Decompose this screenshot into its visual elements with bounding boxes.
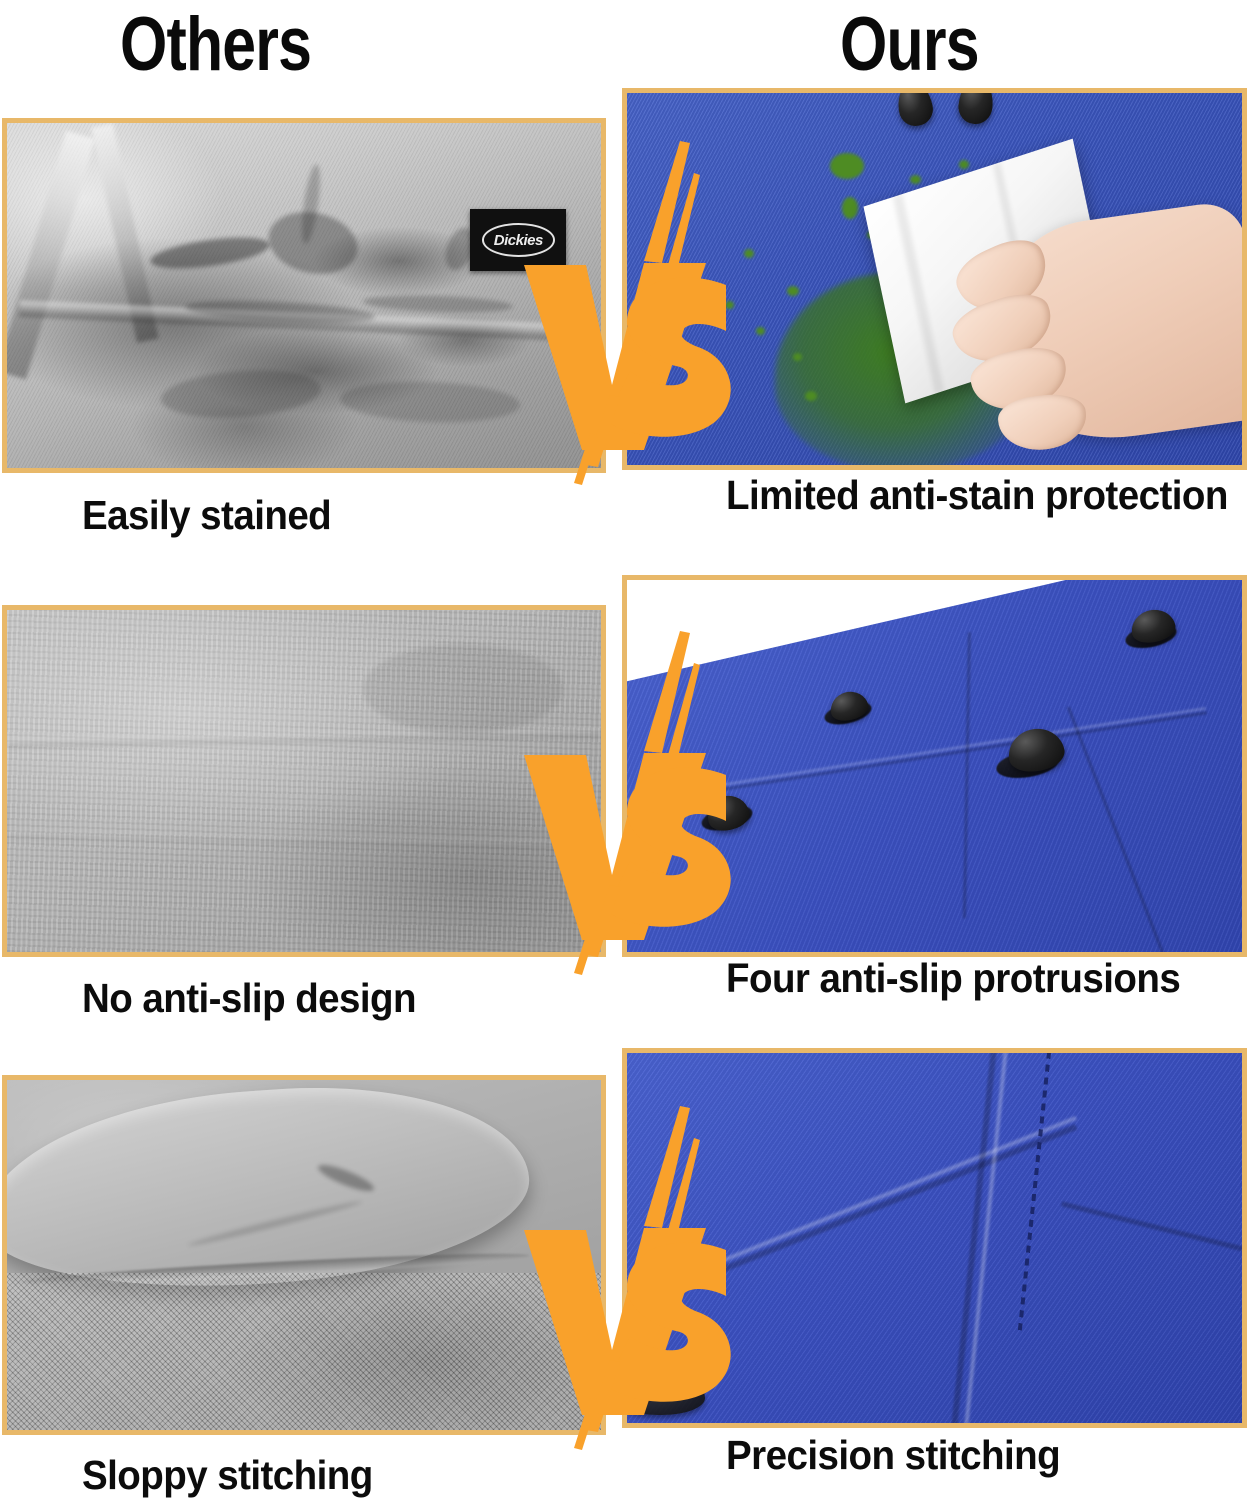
caption-text: Precision stitching: [726, 1432, 1060, 1479]
caption-others-row3: Sloppy stitching: [24, 1452, 391, 1499]
caption-text: Four anti-slip protrusions: [726, 955, 1180, 1002]
photo-others-no-antislip: [2, 605, 606, 957]
caption-others-row1: Easily stained: [24, 492, 347, 539]
caption-text: No anti-slip design: [82, 975, 416, 1022]
comparison-headers: Others Ours: [0, 0, 1249, 90]
photo-ours-precision-stitching: [622, 1048, 1247, 1428]
fabric-texture-grey-stained: [7, 123, 601, 468]
caption-ours-row3: Precision stitching: [668, 1432, 1081, 1479]
page-title-ours: Ours: [840, 2, 979, 88]
caption-ours-row1: Limited anti-stain protection: [668, 472, 1249, 519]
brand-label-tag: Dickies: [470, 209, 566, 271]
mesh-weave: [7, 1273, 601, 1431]
photo-ours-antislip-protrusions: [622, 575, 1247, 957]
brand-label-text: Dickies: [482, 223, 555, 257]
fabric-texture-grey-mesh: [7, 1080, 601, 1430]
stitch-line: [1017, 1053, 1052, 1334]
photo-ours-stain-wipe: [622, 88, 1247, 470]
photo-others-sloppy-stitching: [2, 1075, 606, 1435]
caption-text: Sloppy stitching: [82, 1452, 373, 1499]
caption-ours-row2: Four anti-slip protrusions: [668, 955, 1209, 1002]
caption-text: Easily stained: [82, 492, 331, 539]
photo-others-stained: Dickies: [2, 118, 606, 473]
caption-text: Limited anti-stain protection: [726, 472, 1228, 519]
fabric-texture-grey-plain: [7, 610, 601, 952]
page-title-others: Others: [120, 2, 311, 88]
fabric-texture-blue-seamed: [627, 1053, 1242, 1423]
caption-others-row2: No anti-slip design: [24, 975, 437, 1022]
